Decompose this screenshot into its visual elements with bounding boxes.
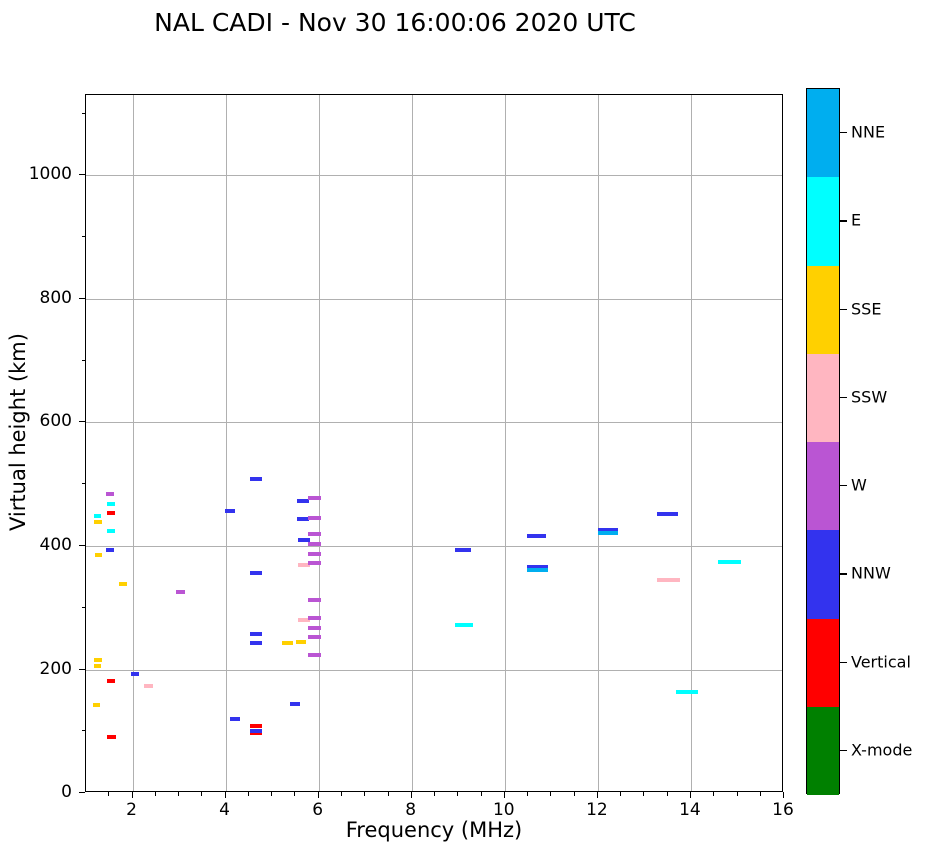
gridline-x-6	[319, 95, 320, 791]
data-mark	[657, 512, 678, 516]
colorbar-segment-nnw	[807, 530, 839, 618]
x-minor-tick	[108, 792, 109, 796]
colorbar-tick-e	[840, 220, 847, 221]
data-mark	[225, 509, 235, 513]
x-minor-tick	[457, 792, 458, 796]
ionogram-figure: NAL CADI - Nov 30 16:00:06 2020 UTC 2468…	[0, 0, 951, 856]
gridline-x-10	[505, 95, 506, 791]
colorbar-label-vertical: Vertical	[851, 652, 911, 671]
x-tick-label-8: 8	[405, 800, 416, 820]
colorbar-segment-x-mode	[807, 707, 839, 795]
data-mark	[297, 499, 309, 503]
x-minor-tick	[713, 792, 714, 796]
data-mark	[250, 729, 262, 733]
colorbar-label-nne: NNE	[851, 123, 885, 142]
data-mark	[250, 477, 262, 481]
data-mark	[107, 735, 115, 739]
data-mark	[527, 534, 547, 538]
colorbar-tick-ssw	[840, 397, 847, 398]
x-minor-tick	[527, 792, 528, 796]
colorbar-tick-w	[840, 485, 847, 486]
x-tick-label-12: 12	[586, 800, 608, 820]
data-mark	[308, 542, 321, 546]
colorbar-label-e: E	[851, 211, 861, 230]
data-mark	[455, 623, 473, 627]
data-mark	[250, 632, 262, 636]
y-tick-1000	[79, 174, 85, 175]
gridline-x-2	[133, 95, 134, 791]
colorbar-label-w: W	[851, 476, 867, 495]
data-mark	[308, 552, 321, 556]
gridline-x-8	[412, 95, 413, 791]
x-minor-tick	[550, 792, 551, 796]
data-mark	[107, 529, 115, 533]
x-minor-tick	[271, 792, 272, 796]
colorbar-segment-e	[807, 177, 839, 265]
colorbar-label-nnw: NNW	[851, 564, 891, 583]
gridline-x-14	[691, 95, 692, 791]
colorbar-tick-nnw	[840, 573, 847, 574]
colorbar-tick-sse	[840, 309, 847, 310]
data-mark	[308, 626, 321, 630]
x-tick-12	[597, 792, 598, 798]
data-mark	[282, 641, 292, 645]
x-tick-6	[318, 792, 319, 798]
gridline-y-1000	[86, 175, 782, 176]
x-tick-label-14: 14	[679, 800, 701, 820]
plot-area	[85, 94, 783, 792]
colorbar-segment-ssw	[807, 354, 839, 442]
x-minor-tick	[434, 792, 435, 796]
colorbar-segment-sse	[807, 266, 839, 354]
y-tick-label-200: 200	[40, 659, 72, 679]
data-mark	[94, 664, 101, 668]
y-tick-400	[79, 545, 85, 546]
y-minor-tick	[82, 236, 86, 237]
y-minor-tick	[82, 607, 86, 608]
y-minor-tick	[82, 730, 86, 731]
gridline-y-800	[86, 299, 782, 300]
x-minor-tick	[178, 792, 179, 796]
x-tick-14	[690, 792, 691, 798]
data-mark	[230, 717, 240, 721]
y-tick-600	[79, 421, 85, 422]
x-tick-label-10: 10	[493, 800, 515, 820]
data-mark	[106, 548, 114, 552]
gridline-y-200	[86, 670, 782, 671]
x-minor-tick	[341, 792, 342, 796]
data-mark	[94, 520, 101, 524]
gridline-y-400	[86, 546, 782, 547]
x-minor-tick	[574, 792, 575, 796]
x-minor-tick	[643, 792, 644, 796]
data-mark	[308, 532, 321, 536]
data-mark	[308, 561, 321, 565]
colorbar-tick-nne	[840, 132, 847, 133]
x-minor-tick	[737, 792, 738, 796]
data-mark	[298, 538, 310, 542]
y-minor-tick	[82, 113, 86, 114]
data-mark	[718, 560, 740, 564]
data-mark	[106, 492, 114, 496]
data-mark	[657, 578, 679, 582]
data-mark	[119, 582, 127, 586]
data-mark	[455, 548, 471, 552]
x-minor-tick	[248, 792, 249, 796]
x-minor-tick	[620, 792, 621, 796]
y-tick-800	[79, 298, 85, 299]
data-mark	[94, 658, 101, 662]
x-minor-tick	[667, 792, 668, 796]
x-tick-8	[411, 792, 412, 798]
x-tick-16	[783, 792, 784, 798]
x-minor-tick	[388, 792, 389, 796]
colorbar-label-sse: SSE	[851, 299, 881, 318]
gridline-x-12	[598, 95, 599, 791]
y-tick-200	[79, 669, 85, 670]
gridline-y-600	[86, 422, 782, 423]
data-mark	[290, 702, 300, 706]
data-mark	[250, 641, 262, 645]
colorbar-segment-nne	[807, 89, 839, 177]
data-mark	[598, 531, 619, 535]
x-minor-tick	[294, 792, 295, 796]
data-mark	[176, 590, 185, 594]
colorbar-label-ssw: SSW	[851, 387, 887, 406]
data-mark	[296, 640, 306, 644]
data-mark	[95, 553, 102, 557]
x-minor-tick	[481, 792, 482, 796]
x-minor-tick	[155, 792, 156, 796]
colorbar-segment-w	[807, 442, 839, 530]
y-tick-label-600: 600	[40, 411, 72, 431]
data-mark	[676, 690, 698, 694]
x-tick-label-16: 16	[772, 800, 794, 820]
data-mark	[94, 514, 101, 518]
gridline-x-4	[226, 95, 227, 791]
colorbar-segment-vertical	[807, 619, 839, 707]
data-mark	[93, 703, 100, 707]
data-mark	[250, 724, 262, 728]
y-tick-label-800: 800	[40, 288, 72, 308]
x-tick-label-4: 4	[219, 800, 230, 820]
page-title: NAL CADI - Nov 30 16:00:06 2020 UTC	[0, 8, 790, 37]
data-mark	[107, 502, 115, 506]
data-mark	[527, 568, 548, 572]
y-minor-tick	[82, 483, 86, 484]
y-axis-title: Virtual height (km)	[6, 232, 30, 632]
y-tick-label-0: 0	[61, 782, 72, 802]
data-mark	[308, 598, 321, 602]
x-minor-tick	[201, 792, 202, 796]
data-mark	[297, 517, 309, 521]
y-minor-tick	[82, 360, 86, 361]
data-mark	[250, 571, 262, 575]
x-tick-2	[132, 792, 133, 798]
data-mark	[308, 653, 321, 657]
colorbar-tick-x-mode	[840, 750, 847, 751]
data-mark	[144, 684, 153, 688]
colorbar-tick-vertical	[840, 662, 847, 663]
x-tick-label-2: 2	[126, 800, 137, 820]
x-tick-label-6: 6	[312, 800, 323, 820]
data-mark	[308, 496, 321, 500]
data-mark	[308, 516, 321, 520]
colorbar	[806, 88, 840, 794]
data-mark	[131, 672, 139, 676]
x-minor-tick	[364, 792, 365, 796]
data-mark	[308, 616, 321, 620]
x-axis-title: Frequency (MHz)	[85, 818, 783, 842]
data-mark	[107, 679, 115, 683]
x-minor-tick	[760, 792, 761, 796]
x-tick-10	[504, 792, 505, 798]
colorbar-label-x-mode: X-mode	[851, 740, 912, 759]
data-mark	[308, 635, 321, 639]
y-tick-0	[79, 792, 85, 793]
x-tick-4	[225, 792, 226, 798]
y-tick-label-400: 400	[40, 535, 72, 555]
y-tick-label-1000: 1000	[29, 164, 72, 184]
data-mark	[107, 511, 115, 515]
